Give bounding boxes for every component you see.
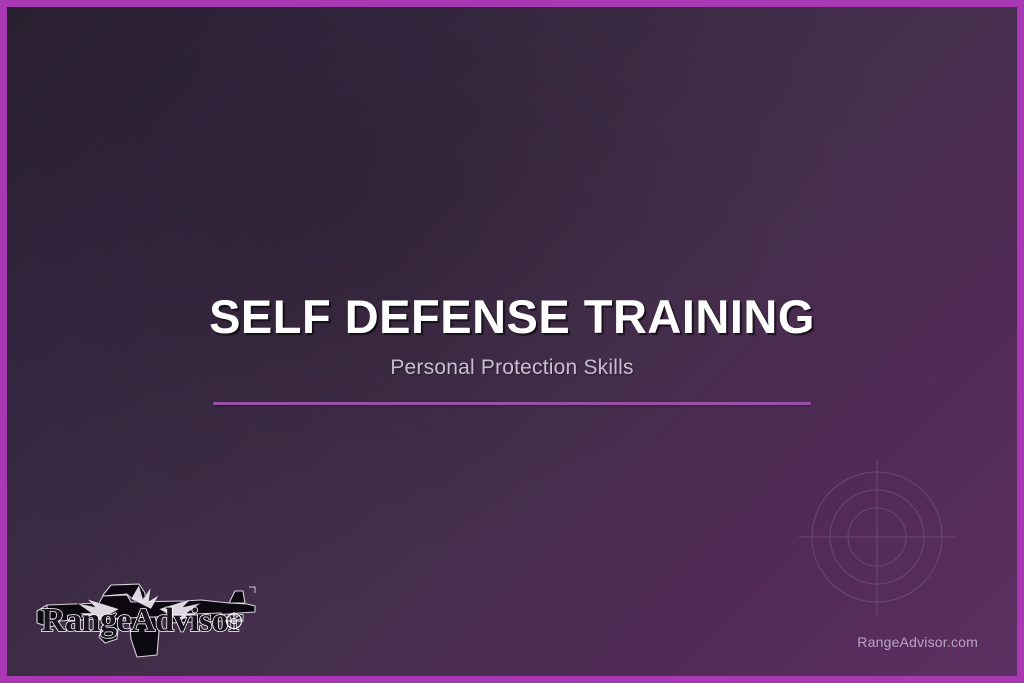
title-divider [213, 402, 811, 405]
page-subtitle: Personal Protection Skills [7, 356, 1017, 380]
presentation-slide: SELF DEFENSE TRAINING Personal Protectio… [0, 0, 1024, 683]
brand-logo: RangeAdvisor [33, 569, 265, 665]
target-crosshair-icon [797, 457, 957, 617]
page-title: SELF DEFENSE TRAINING [7, 293, 1017, 342]
brand-wordmark: RangeAdvisor [41, 602, 243, 639]
title-block: SELF DEFENSE TRAINING Personal Protectio… [7, 293, 1017, 405]
site-watermark: RangeAdvisor.com [857, 634, 978, 650]
